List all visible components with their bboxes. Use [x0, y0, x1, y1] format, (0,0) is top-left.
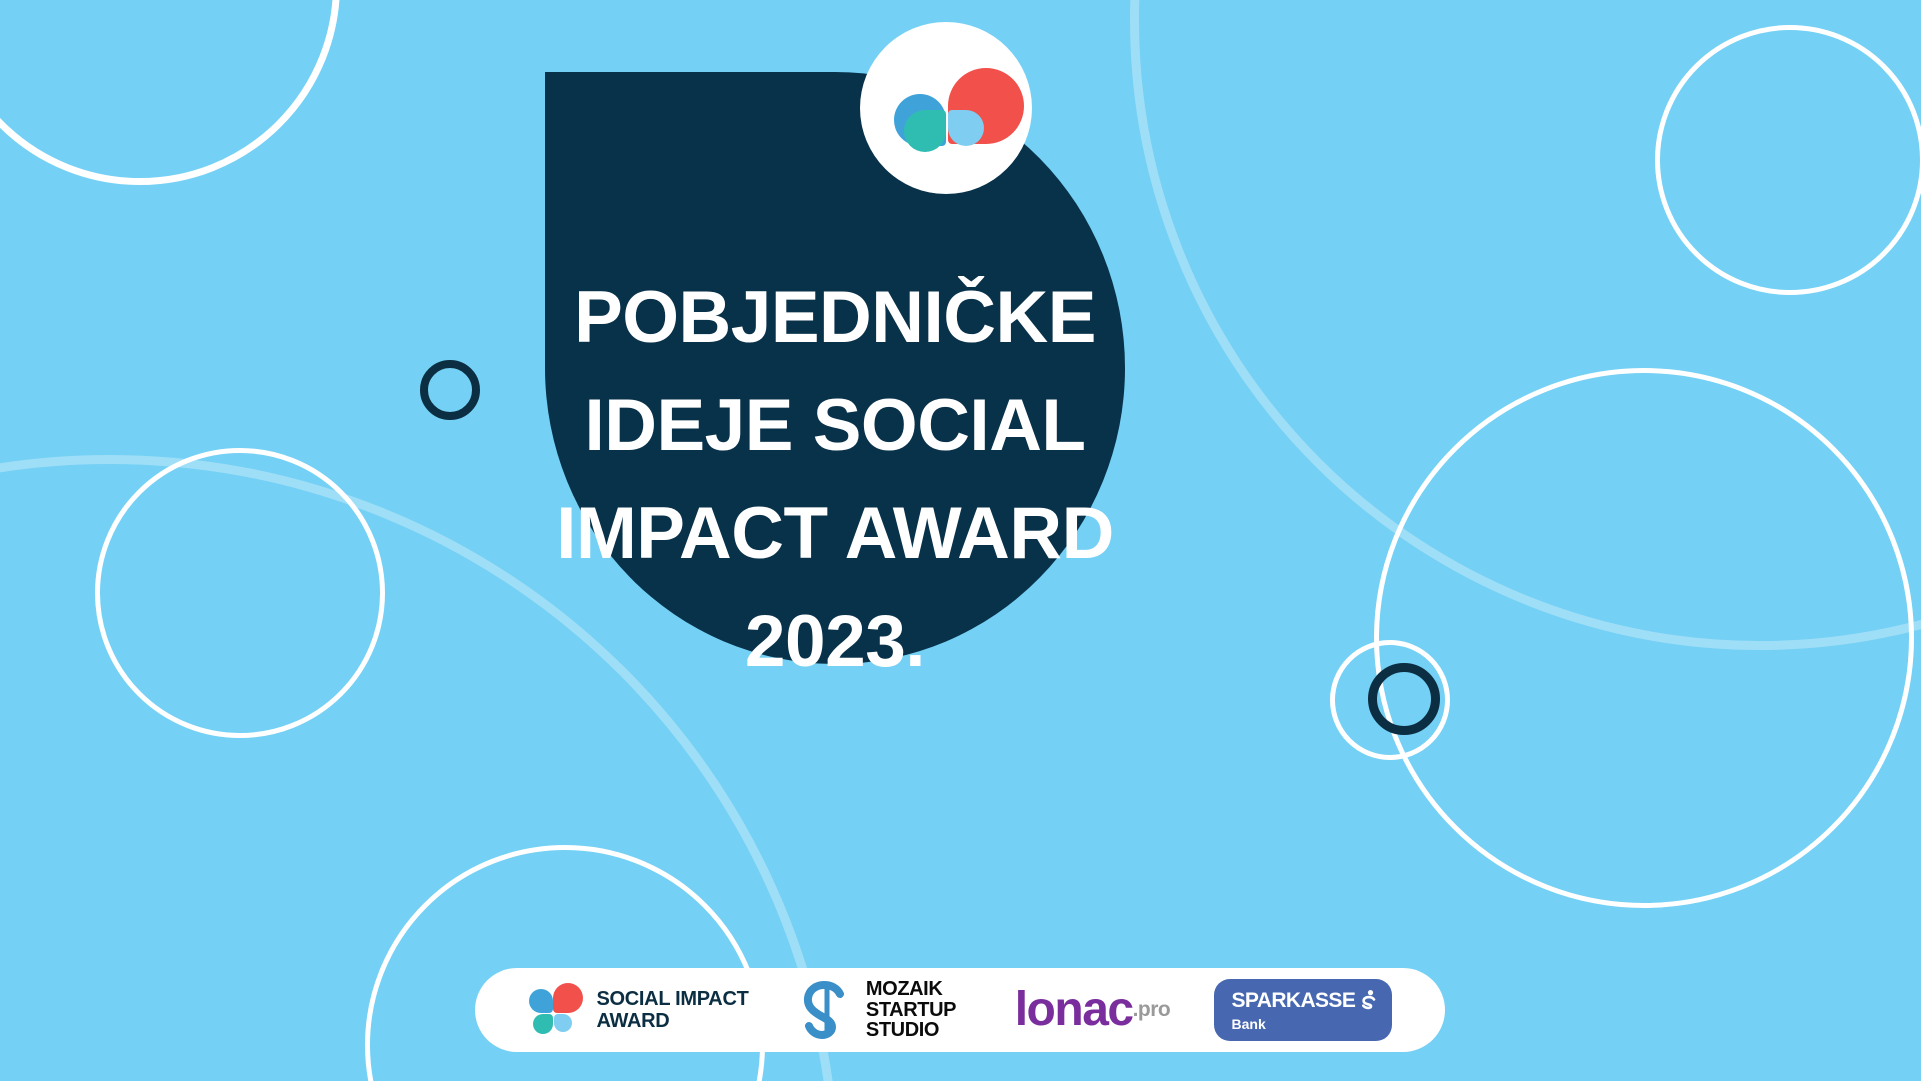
petal-red-icon [553, 983, 583, 1013]
partner-label-sparkasse: SPARKASSE [1232, 990, 1356, 1011]
partner-label-sparkasse-sub: Bank [1232, 1017, 1392, 1031]
partner-logo-bar: SOCIAL IMPACT AWARD MOZAIK STARTUP STUDI… [475, 968, 1445, 1052]
page-title: POBJEDNIČKE IDEJE SOCIAL IMPACT AWARD 20… [420, 264, 1250, 696]
decorative-circle-bottom-right [1374, 368, 1914, 908]
partner-label-lonac: lonac [1015, 986, 1133, 1034]
mozaik-s-icon [799, 981, 855, 1039]
brand-badge [860, 22, 1032, 194]
partner-mozaik-startup-studio: MOZAIK STARTUP STUDIO [765, 979, 990, 1041]
petal-teal-icon [533, 1014, 553, 1034]
partner-label-mozaik-startup-studio: MOZAIK STARTUP STUDIO [866, 979, 956, 1041]
petal-teal-icon [904, 110, 946, 152]
sia-flower-icon [526, 981, 584, 1039]
sparkasse-s-icon [1360, 990, 1377, 1012]
partner-lonac-pro: lonac.pro [990, 986, 1195, 1034]
petal-light-blue-icon [948, 110, 984, 146]
partner-label-lonac-suffix: .pro [1133, 998, 1171, 1022]
decorative-circle-mid-left [95, 448, 385, 738]
petal-light-blue-icon [554, 1014, 572, 1032]
sparkasse-logo-box: SPARKASSE Bank [1214, 979, 1392, 1041]
petal-blue-icon [529, 989, 553, 1013]
partner-label-social-impact-award: SOCIAL IMPACT AWARD [596, 988, 748, 1032]
decorative-circle-top-left [0, 0, 340, 185]
partner-social-impact-award: SOCIAL IMPACT AWARD [510, 981, 765, 1039]
decorative-circle-top-right [1655, 25, 1921, 295]
poster-canvas: POBJEDNIČKE IDEJE SOCIAL IMPACT AWARD 20… [0, 0, 1921, 1081]
partner-sparkasse-bank: SPARKASSE Bank [1195, 979, 1410, 1041]
decorative-circle-small-white [1330, 640, 1450, 760]
decorative-circle-small-navy [1368, 663, 1440, 735]
